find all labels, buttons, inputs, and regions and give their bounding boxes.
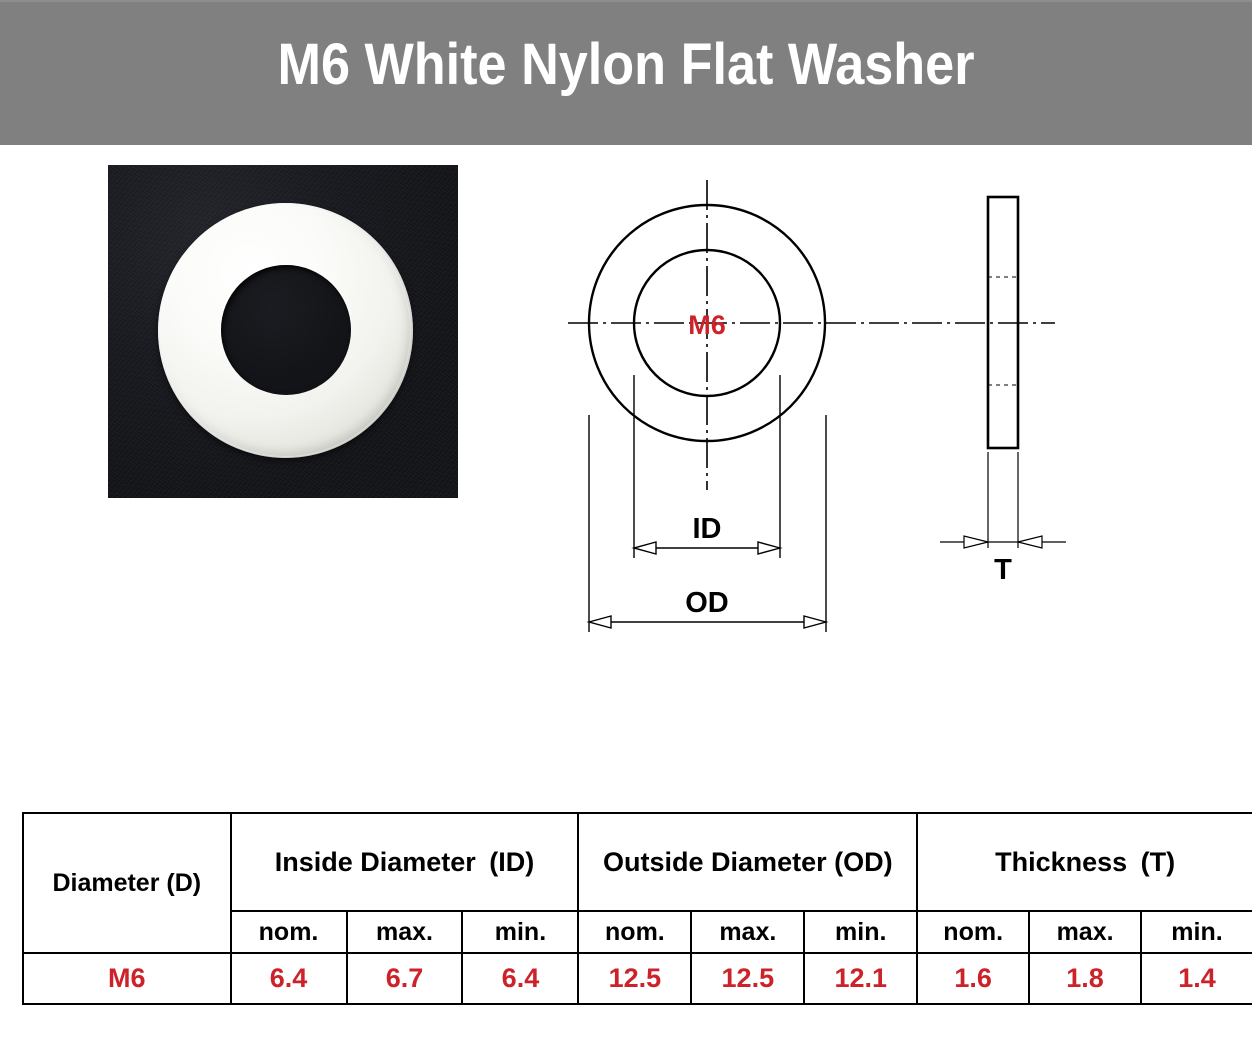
id-arrowhead-left-icon <box>634 542 656 554</box>
od-arrowhead-right-icon <box>804 616 826 628</box>
sub-header-od-max: max. <box>691 911 804 953</box>
drawing-center-label: M6 <box>688 310 726 340</box>
column-group-header-thickness: Thickness (T) <box>917 813 1252 911</box>
sub-header-id-max: max. <box>347 911 463 953</box>
sub-header-od-min: min. <box>804 911 917 953</box>
cell-t-min: 1.4 <box>1141 953 1252 1004</box>
sub-header-od-nom: nom. <box>578 911 691 953</box>
sub-header-t-nom: nom. <box>917 911 1029 953</box>
technical-drawing: ID OD M6 T <box>540 160 1100 660</box>
column-header-diameter: Diameter (D) <box>23 813 231 953</box>
t-arrowhead-right-icon <box>1018 536 1042 548</box>
sub-header-id-nom: nom. <box>231 911 347 953</box>
cell-od-min: 12.1 <box>804 953 917 1004</box>
column-group-header-outside-diameter: Outside Diameter (OD) <box>578 813 917 911</box>
table-group-header-row: Diameter (D) Inside Diameter (ID) Outsid… <box>23 813 1252 911</box>
cell-id-min: 6.4 <box>462 953 578 1004</box>
specification-table: Diameter (D) Inside Diameter (ID) Outsid… <box>22 812 1252 1005</box>
cell-id-nom: 6.4 <box>231 953 347 1004</box>
page-title: M6 White Nylon Flat Washer <box>63 35 1190 96</box>
washer-photo-center-hole <box>221 265 351 395</box>
cell-od-max: 12.5 <box>691 953 804 1004</box>
cell-t-nom: 1.6 <box>917 953 1029 1004</box>
technical-drawing-svg: ID OD M6 T <box>540 160 1100 660</box>
cell-od-nom: 12.5 <box>578 953 691 1004</box>
od-arrowhead-left-icon <box>589 616 611 628</box>
cell-diameter: M6 <box>23 953 231 1004</box>
cell-id-max: 6.7 <box>347 953 463 1004</box>
od-dimension-label: OD <box>685 587 729 619</box>
id-dimension-label: ID <box>693 513 722 545</box>
t-dimension-label: T <box>994 554 1012 586</box>
column-group-header-inside-diameter: Inside Diameter (ID) <box>231 813 579 911</box>
id-arrowhead-right-icon <box>758 542 780 554</box>
product-photo <box>108 165 458 498</box>
sub-header-t-max: max. <box>1029 911 1141 953</box>
sub-header-id-min: min. <box>462 911 578 953</box>
cell-t-max: 1.8 <box>1029 953 1141 1004</box>
product-spec-sheet: M6 White Nylon Flat Washer <box>0 0 1252 1062</box>
t-arrowhead-left-icon <box>964 536 988 548</box>
header-top-divider <box>0 0 1252 2</box>
sub-header-t-min: min. <box>1141 911 1252 953</box>
table-row: M6 6.4 6.7 6.4 12.5 12.5 12.1 1.6 1.8 1.… <box>23 953 1252 1004</box>
washer-photo-body <box>158 203 413 458</box>
